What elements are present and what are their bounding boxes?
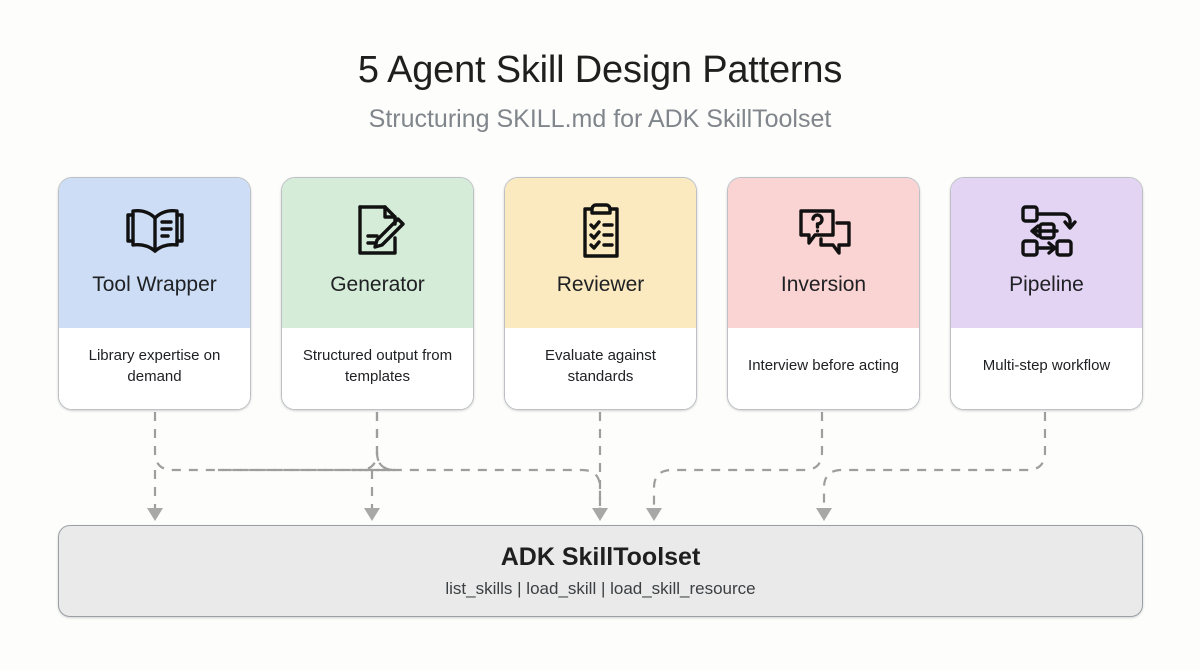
card-body: Interview before acting [728,328,919,409]
card-title: Tool Wrapper [92,272,217,298]
card-body: Structured output from templates [282,328,473,409]
toolset-title: ADK SkillToolset [501,542,701,573]
card-header: Inversion [728,178,919,328]
card-title: Reviewer [557,272,645,298]
pattern-card-tool-wrapper[interactable]: Tool Wrapper Library expertise on demand [58,177,251,410]
toolset-methods: list_skills | load_skill | load_skill_re… [445,578,755,600]
card-body: Evaluate against standards [505,328,696,409]
card-title: Inversion [781,272,866,298]
question-chat-bubbles-icon [793,200,855,262]
card-title: Generator [330,272,425,298]
pattern-card-row: Tool Wrapper Library expertise on demand [58,177,1143,410]
page-title: 5 Agent Skill Design Patterns [0,46,1200,94]
card-description: Interview before acting [748,355,899,376]
card-title: Pipeline [1009,272,1084,298]
card-description: Structured output from templates [292,345,463,387]
pattern-card-inversion[interactable]: Inversion Interview before acting [727,177,920,410]
card-header: Generator [282,178,473,328]
document-edit-icon [349,200,407,262]
clipboard-checklist-icon [574,200,628,262]
card-body: Library expertise on demand [59,328,250,409]
card-description: Evaluate against standards [515,345,686,387]
pattern-card-reviewer[interactable]: Reviewer Evaluate against standards [504,177,697,410]
page-subtitle: Structuring SKILL.md for ADK SkillToolse… [0,102,1200,136]
card-description: Multi-step workflow [983,355,1111,376]
open-book-icon [124,200,186,262]
card-body: Multi-step workflow [951,328,1142,409]
pattern-card-pipeline[interactable]: Pipeline Multi-step workflow [950,177,1143,410]
card-header: Reviewer [505,178,696,328]
flowchart-pipeline-icon [1017,200,1077,262]
adk-skilltoolset-bar[interactable]: ADK SkillToolset list_skills | load_skil… [58,525,1143,617]
card-header: Tool Wrapper [59,178,250,328]
card-header: Pipeline [951,178,1142,328]
diagram-canvas: 5 Agent Skill Design Patterns Structurin… [0,0,1200,670]
pattern-card-generator[interactable]: Generator Structured output from templat… [281,177,474,410]
card-description: Library expertise on demand [69,345,240,387]
